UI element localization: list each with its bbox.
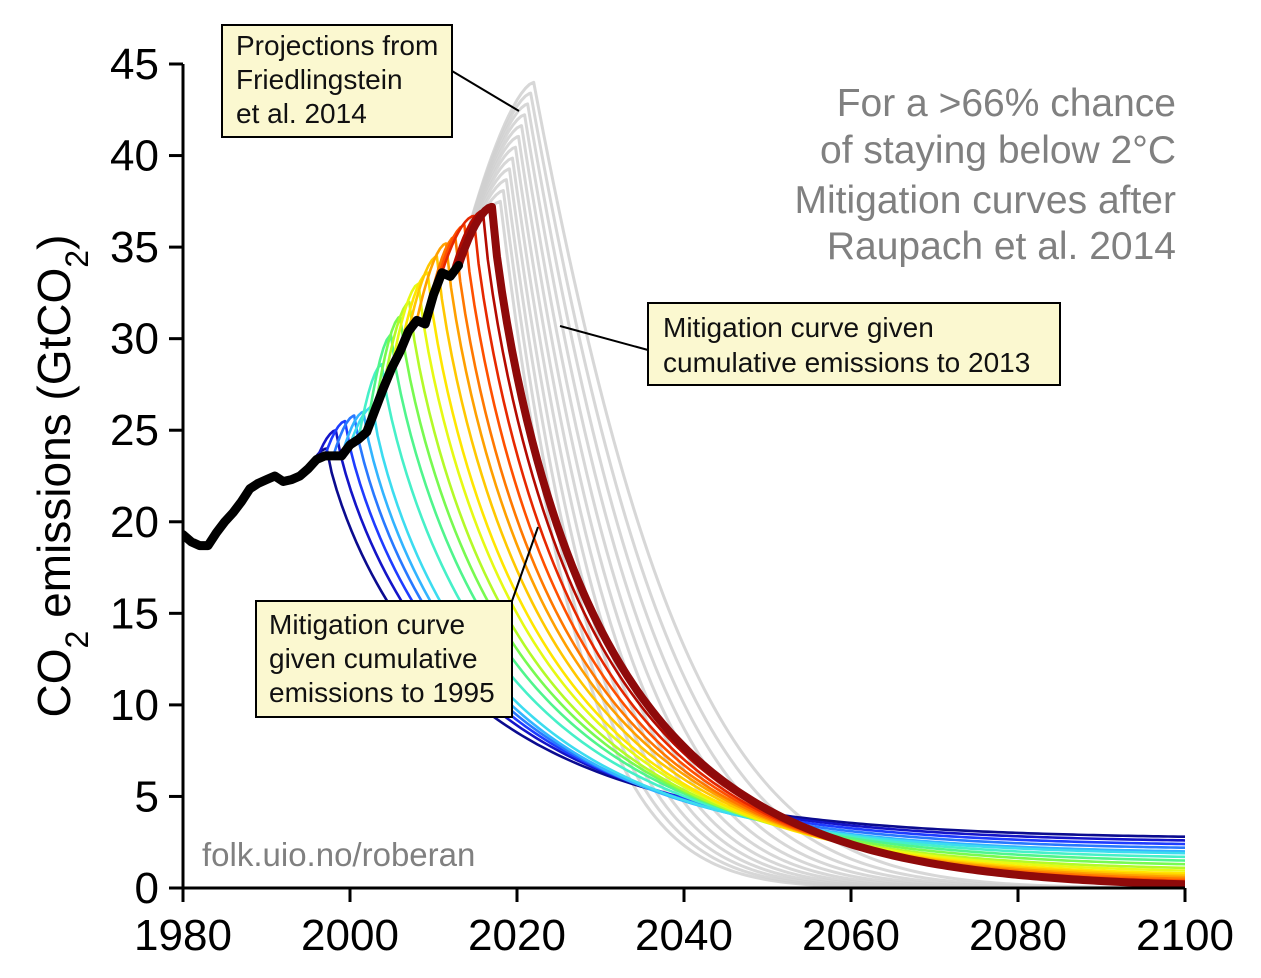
x-tick-label: 2100 [1136,911,1234,960]
chance-note-line2: of staying below 2°C [820,129,1176,172]
grey-projection-curve [459,191,1185,888]
mitigation-2013-note-line1: Mitigation curve given [663,312,934,343]
projection-note-line1: Projections from [236,30,438,61]
source-note-line1: Mitigation curves after [795,179,1177,222]
y-tick-label: 5 [135,772,159,821]
y-tick-label: 40 [110,132,159,181]
y-tick-labels: 051015202530354045 [110,40,159,913]
y-tick-marks [169,64,183,888]
mitigation-1995-note: Mitigation curve given cumulative emissi… [256,601,512,717]
source-note-line2: Raupach et al. 2014 [827,225,1176,268]
y-tick-label: 45 [110,40,159,89]
projection-note-line3: et al. 2014 [236,98,367,129]
x-tick-label: 2040 [635,911,733,960]
chance-note-line1: For a >66% chance [837,82,1176,125]
mitigation-1995-note-line1: Mitigation curve [269,609,465,640]
chart-root: 051015202530354045 198020002020204020602… [0,0,1261,978]
x-tick-label: 2080 [969,911,1067,960]
source-note: Mitigation curves after Raupach et al. 2… [795,179,1177,268]
url-watermark: folk.uio.no/roberan [202,836,475,873]
mitigation-2013-note: Mitigation curve given cumulative emissi… [648,303,1060,385]
x-tick-marks [183,888,1185,902]
x-tick-labels: 1980200020202040206020802100 [134,911,1234,960]
mitigation-curve [375,317,1185,865]
y-tick-label: 0 [135,864,159,913]
y-tick-label: 35 [110,223,159,272]
mitigation-2013-note-line2: cumulative emissions to 2013 [663,347,1030,378]
projection-note-leader [452,71,519,111]
mitigation-curve [367,335,1185,861]
y-tick-label: 10 [110,681,159,730]
y-axis-title: CO2 emissions (GtCO2) [28,235,95,718]
chance-note: For a >66% chance of staying below 2°C [820,82,1176,172]
projection-note: Projections from Friedlingstein et al. 2… [222,25,452,137]
projection-note-line2: Friedlingstein [236,64,403,95]
y-tick-label: 25 [110,406,159,455]
emissions-chart: 051015202530354045 198020002020204020602… [0,0,1261,978]
y-tick-label: 15 [110,589,159,638]
y-tick-label: 20 [110,498,159,547]
x-tick-label: 2020 [468,911,566,960]
mitigation-1995-note-line2: given cumulative [269,643,478,674]
y-tick-label: 30 [110,315,159,364]
x-tick-label: 1980 [134,911,232,960]
x-tick-label: 2060 [802,911,900,960]
mitigation-1995-note-line3: emissions to 1995 [269,677,495,708]
x-tick-label: 2000 [301,911,399,960]
